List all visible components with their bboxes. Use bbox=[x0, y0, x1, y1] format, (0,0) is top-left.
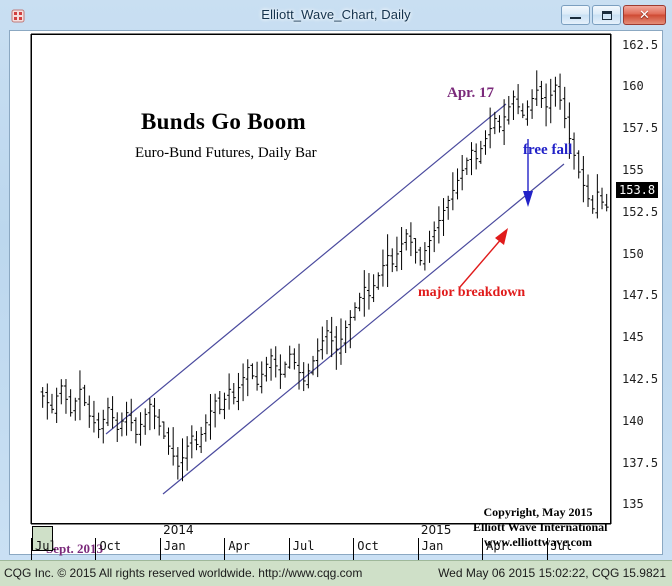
price-tick-label: 155 bbox=[622, 163, 644, 177]
ohlc-bars bbox=[41, 70, 609, 481]
time-axis-month-label: Jul bbox=[35, 539, 57, 553]
time-axis-month-label: Apr bbox=[486, 539, 508, 553]
time-axis-months: JulOctJanAprJulOctJanAprJul bbox=[31, 538, 611, 552]
lower-channel-line bbox=[163, 164, 564, 494]
peak-date-label: Apr. 17 bbox=[447, 85, 494, 102]
application-window: Elliott_Wave_Chart, Daily ✕ bbox=[0, 0, 672, 585]
maximize-button[interactable] bbox=[592, 5, 621, 25]
chart-title: Bunds Go Boom bbox=[141, 109, 306, 135]
time-axis-month-label: Jul bbox=[551, 539, 573, 553]
price-tick-label: 157.5 bbox=[622, 121, 658, 135]
price-tick-label: 162.5 bbox=[622, 38, 658, 52]
time-axis-month-label: Jan bbox=[164, 539, 186, 553]
time-axis-month-label: Jan bbox=[422, 539, 444, 553]
time-axis-month-label: Apr bbox=[228, 539, 250, 553]
time-axis-month-label: Oct bbox=[357, 539, 379, 553]
time-axis-month-label: Oct bbox=[99, 539, 121, 553]
maximize-icon bbox=[593, 6, 620, 24]
price-tick-label: 140 bbox=[622, 414, 644, 428]
status-bar: CQG Inc. © 2015 All rights reserved worl… bbox=[0, 560, 672, 586]
status-timestamp: Wed May 06 2015 15:02:22, CQG 15.9821 bbox=[438, 566, 666, 580]
time-axis-month-label: Jul bbox=[293, 539, 315, 553]
price-tick-label: 145 bbox=[622, 330, 644, 344]
chart-subtitle: Euro-Bund Futures, Daily Bar bbox=[135, 145, 317, 162]
price-tick-label: 135 bbox=[622, 497, 644, 511]
price-scale[interactable]: 162.5160157.5155152.5150147.5145142.5140… bbox=[614, 34, 664, 524]
time-axis-year-label: 2014 bbox=[163, 523, 194, 537]
time-axis-year-label: 2015 bbox=[421, 523, 452, 537]
free-fall-label: free fall bbox=[523, 142, 572, 159]
window-controls: ✕ bbox=[561, 5, 666, 26]
price-tick-label: 142.5 bbox=[622, 372, 658, 386]
price-chart-svg bbox=[32, 35, 610, 523]
last-price-label: 153.8 bbox=[616, 182, 658, 198]
price-tick-label: 137.5 bbox=[622, 456, 658, 470]
time-axis[interactable]: 20142015 JulOctJanAprJulOctJanAprJul bbox=[31, 524, 611, 552]
close-icon: ✕ bbox=[624, 6, 665, 24]
price-tick-label: 160 bbox=[622, 79, 644, 93]
status-copyright: CQG Inc. © 2015 All rights reserved worl… bbox=[4, 566, 362, 580]
major-breakdown-arrow bbox=[460, 228, 508, 287]
minimize-button[interactable] bbox=[561, 5, 590, 25]
window-titlebar[interactable]: Elliott_Wave_Chart, Daily ✕ bbox=[0, 0, 672, 30]
copyright-line-1: Copyright, May 2015 bbox=[473, 505, 603, 520]
price-tick-label: 147.5 bbox=[622, 288, 658, 302]
price-tick-label: 150 bbox=[622, 247, 644, 261]
price-tick-label: 152.5 bbox=[622, 205, 658, 219]
close-button[interactable]: ✕ bbox=[623, 5, 666, 25]
time-axis-years: 20142015 bbox=[31, 524, 611, 538]
major-breakdown-label: major breakdown bbox=[418, 285, 525, 301]
chart-client-area: Bunds Go Boom Euro-Bund Futures, Daily B… bbox=[9, 30, 663, 555]
price-plot[interactable] bbox=[31, 34, 611, 524]
minimize-icon bbox=[562, 6, 589, 24]
